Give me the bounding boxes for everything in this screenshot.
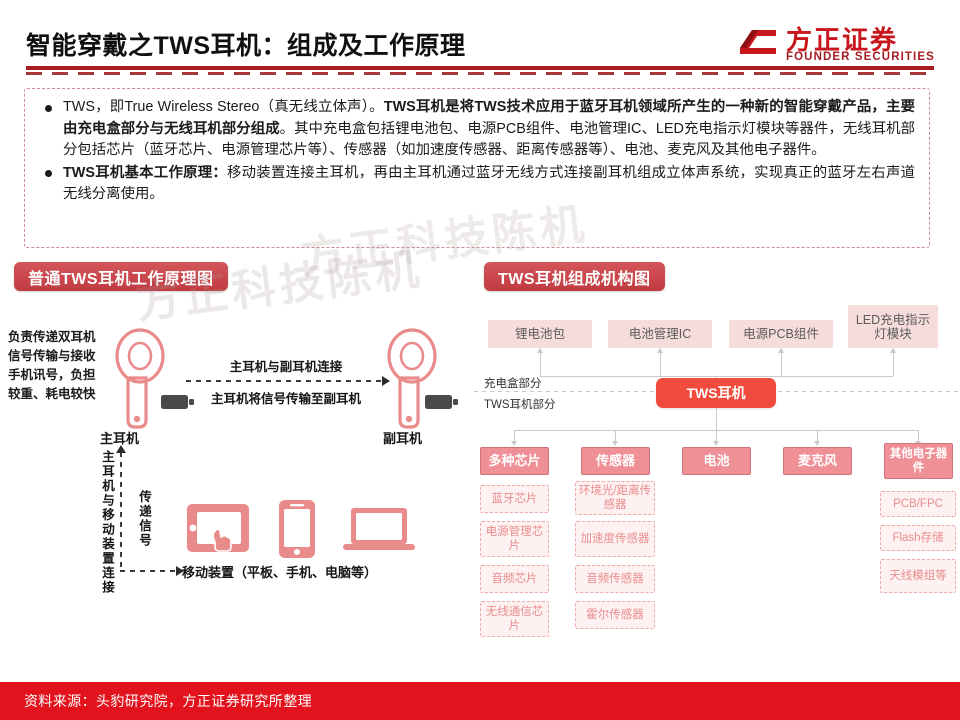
right-diagram: 锂电池包 电池管理IC 电源PCB组件 LED充电指示灯模块 充电盒部分 TWS…	[470, 295, 960, 660]
link-label-bottom: 主耳机将信号传输至副耳机	[186, 388, 386, 407]
node-leaf-other-1: Flash存储	[880, 525, 956, 551]
devices-label: 移动装置（平板、手机、电脑等）	[182, 562, 377, 581]
node-leaf-other-2: 天线模组等	[880, 559, 956, 593]
device-icons-group	[185, 498, 425, 565]
node-charging-case-0: 锂电池包	[488, 320, 592, 348]
summary-bullet-1: TWS，即True Wireless Stereo（真无线立体声）。TWS耳机是…	[39, 97, 915, 162]
bullet-dot-icon	[45, 105, 52, 112]
bullet2-text-bold: TWS耳机基本工作原理：	[63, 165, 227, 181]
secondary-earbud-battery-icon	[424, 392, 460, 412]
footer-source-text: 资料来源：头豹研究院，方正证券研究所整理	[24, 691, 312, 711]
bullet-dot-icon	[45, 170, 52, 177]
connector-arrow-top-3-icon	[890, 348, 896, 353]
node-charging-case-1: 电池管理IC	[608, 320, 712, 348]
node-charging-case-3: LED充电指示灯模块	[848, 305, 938, 348]
node-group-2: 电池	[682, 447, 751, 475]
node-group-3: 麦克风	[783, 447, 852, 475]
node-group-0: 多种芯片	[480, 447, 549, 475]
vertical-label-signal: 传递信号	[135, 490, 154, 548]
section-banner-right: TWS耳机组成机构图	[484, 262, 665, 291]
page-title: 智能穿戴之TWS耳机：组成及工作原理	[26, 26, 466, 62]
secondary-earbud-label: 副耳机	[383, 428, 422, 447]
node-leaf-chip-1: 电源管理芯片	[480, 521, 549, 557]
node-core-tws: TWS耳机	[656, 378, 776, 408]
node-group-1: 传感器	[581, 447, 650, 475]
connector-arrow-mid-3-icon	[814, 441, 820, 446]
node-leaf-chip-3: 无线通信芯片	[480, 601, 549, 637]
founder-logo-mark-icon	[738, 26, 778, 60]
connector-arrow-top-0-icon	[537, 348, 543, 353]
device-link-arrow	[120, 570, 178, 572]
primary-bud-note: 负责传递双耳机信号传输与接收手机讯号，负担较重、耗电较快	[8, 328, 100, 404]
node-leaf-sensor-3: 霍尔传感器	[575, 601, 655, 629]
primary-earbud-icon	[106, 328, 184, 432]
divider-label-earbud: TWS耳机部分	[484, 396, 556, 412]
summary-textbox: TWS，即True Wireless Stereo（真无线立体声）。TWS耳机是…	[24, 88, 930, 248]
company-logo: 方正证券 FOUNDER SECURITIES	[738, 22, 938, 68]
logo-text-en: FOUNDER SECURITIES	[786, 51, 935, 63]
section-banner-left: 普通TWS耳机工作原理图	[14, 262, 228, 291]
connector-arrow-top-1-icon	[657, 348, 663, 353]
node-leaf-chip-0: 蓝牙芯片	[480, 485, 549, 513]
connector-core-down	[716, 408, 717, 430]
slide-header: 智能穿戴之TWS耳机：组成及工作原理 方正证券 FOUNDER SECURITI…	[0, 0, 960, 82]
slide-footer: 资料来源：头豹研究院，方正证券研究所整理	[0, 682, 960, 720]
link-arrow-vertical	[120, 452, 122, 570]
node-leaf-sensor-1: 加速度传感器	[575, 521, 655, 557]
link-arrow-horizontal	[186, 380, 384, 382]
node-leaf-sensor-2: 音频传感器	[575, 565, 655, 593]
connector-arrow-mid-1-icon	[612, 441, 618, 446]
vertical-label-connection: 主耳机与移动装置连接	[98, 450, 117, 595]
connector-arrow-mid-0-icon	[511, 441, 517, 446]
left-diagram: 负责传递双耳机信号传输与接收手机讯号，负担较重、耗电较快	[0, 300, 470, 660]
connector-arrow-top-2-icon	[778, 348, 784, 353]
bullet1-text-a: TWS，即True Wireless Stereo（真无线立体声）。	[63, 99, 384, 115]
divider-label-case: 充电盒部分	[484, 375, 542, 391]
summary-bullet-2: TWS耳机基本工作原理：移动装置连接主耳机，再由主耳机通过蓝牙无线方式连接副耳机…	[39, 162, 915, 206]
node-charging-case-2: 电源PCB组件	[729, 320, 833, 348]
node-leaf-sensor-0: 环境光/距离传感器	[575, 481, 655, 515]
slide-root: 智能穿戴之TWS耳机：组成及工作原理 方正证券 FOUNDER SECURITI…	[0, 0, 960, 720]
title-rule-dashed	[26, 72, 934, 75]
link-label-top: 主耳机与副耳机连接	[186, 356, 386, 375]
node-group-4: 其他电子器件	[884, 443, 953, 479]
node-leaf-chip-2: 音频芯片	[480, 565, 549, 593]
node-leaf-other-0: PCB/FPC	[880, 491, 956, 517]
connector-arrow-mid-2-icon	[713, 441, 719, 446]
